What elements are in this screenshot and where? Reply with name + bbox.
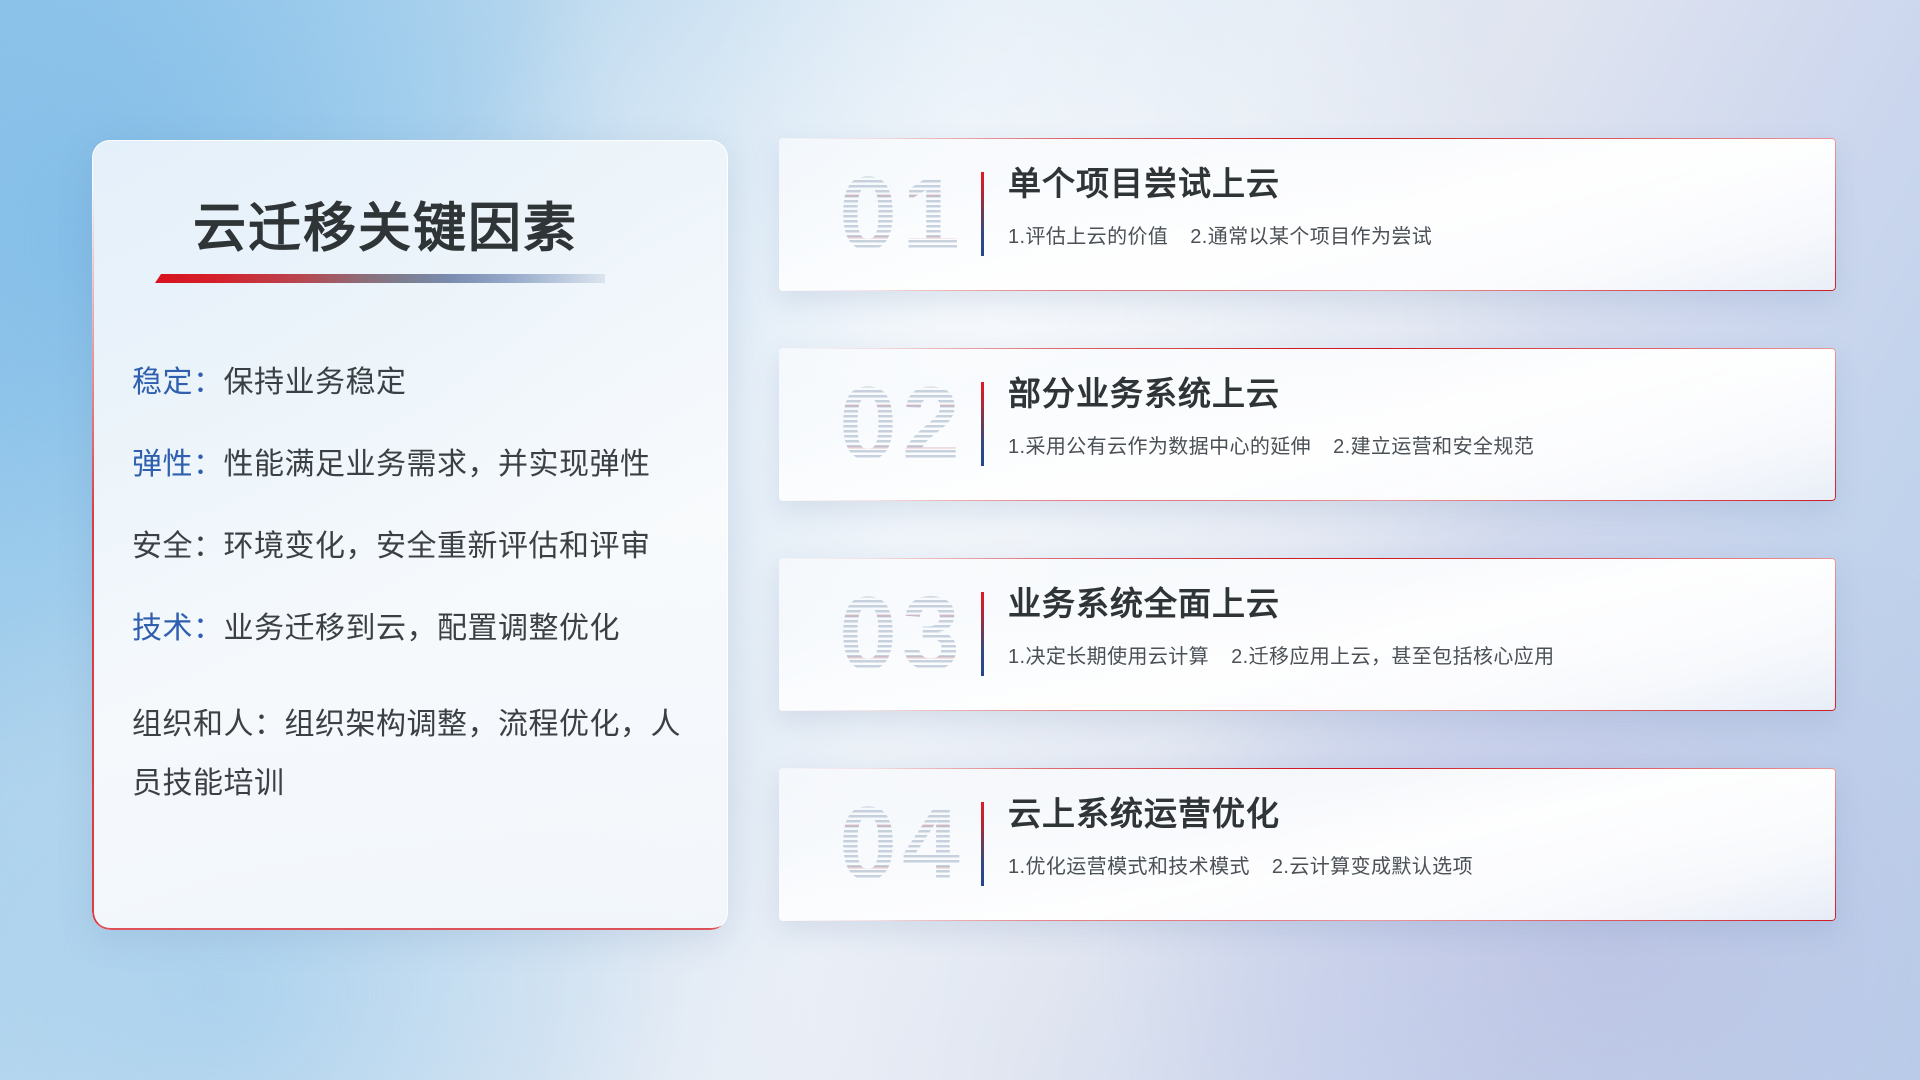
stage-title: 云上系统运营优化	[1008, 794, 1812, 834]
stage-number: 04	[807, 780, 997, 908]
stage-description-part-1: 1.决定长期使用云计算	[1008, 646, 1209, 668]
stage-card-02[interactable]: 02 02 部分业务系统上云 1.采用公有云作为数据中心的延伸2.建立运营和安全…	[779, 348, 1836, 501]
stage-description: 1.评估上云的价值2.通常以某个项目作为尝试	[1008, 220, 1812, 249]
stage-number-tint: 02	[807, 360, 997, 488]
list-item: 稳定：保持业务稳定	[132, 368, 702, 398]
stage-body: 部分业务系统上云 1.采用公有云作为数据中心的延伸2.建立运营和安全规范	[1008, 374, 1812, 459]
stage-title: 业务系统全面上云	[1008, 584, 1812, 624]
list-item-key: 安全：	[132, 530, 224, 563]
list-item: 技术：业务迁移到云，配置调整优化	[132, 614, 702, 644]
stage-body: 单个项目尝试上云 1.评估上云的价值2.通常以某个项目作为尝试	[1008, 164, 1812, 249]
list-item: 组织和人：组织架构调整，流程优化，人员技能培训	[132, 696, 702, 813]
stage-card-03[interactable]: 03 03 业务系统全面上云 1.决定长期使用云计算2.迁移应用上云，甚至包括核…	[779, 558, 1836, 711]
list-item-value: 环境变化，安全重新评估和评审	[224, 530, 651, 563]
stage-description-part-2: 2.建立运营和安全规范	[1333, 436, 1534, 458]
stage-description-part-2: 2.迁移应用上云，甚至包括核心应用	[1231, 646, 1554, 668]
list-item-key: 技术：	[132, 612, 224, 645]
stage-number: 03	[807, 570, 997, 698]
list-item-key: 稳定：	[132, 366, 224, 399]
stage-description-part-1: 1.评估上云的价值	[1008, 226, 1168, 248]
stage-number-tint: 01	[807, 150, 997, 278]
stage-divider	[981, 172, 984, 256]
stage-number-tint: 04	[807, 780, 997, 908]
list-item-key: 弹性：	[132, 448, 224, 481]
stage-description: 1.采用公有云作为数据中心的延伸2.建立运营和安全规范	[1008, 430, 1812, 459]
stage-body: 云上系统运营优化 1.优化运营模式和技术模式2.云计算变成默认选项	[1008, 794, 1812, 879]
stage-body: 业务系统全面上云 1.决定长期使用云计算2.迁移应用上云，甚至包括核心应用	[1008, 584, 1812, 669]
list-item-key: 组织和人：	[132, 708, 285, 741]
page-title: 云迁移关键因素	[193, 186, 578, 262]
title-underline-accent	[155, 274, 605, 283]
stage-divider	[981, 382, 984, 466]
stage-divider	[981, 802, 984, 886]
list-item-value: 保持业务稳定	[224, 366, 407, 399]
list-item-value: 性能满足业务需求，并实现弹性	[224, 448, 651, 481]
stage-number: 02	[807, 360, 997, 488]
stage-description: 1.决定长期使用云计算2.迁移应用上云，甚至包括核心应用	[1008, 640, 1812, 669]
list-item-value: 业务迁移到云，配置调整优化	[224, 612, 621, 645]
stage-title: 单个项目尝试上云	[1008, 164, 1812, 204]
stage-number: 01	[807, 150, 997, 278]
stage-title: 部分业务系统上云	[1008, 374, 1812, 414]
migration-stages-list: 01 01 单个项目尝试上云 1.评估上云的价值2.通常以某个项目作为尝试 02…	[779, 138, 1836, 921]
stage-card-04[interactable]: 04 04 云上系统运营优化 1.优化运营模式和技术模式2.云计算变成默认选项	[779, 768, 1836, 921]
stage-description-part-2: 2.云计算变成默认选项	[1272, 856, 1473, 878]
list-item: 弹性：性能满足业务需求，并实现弹性	[132, 450, 702, 480]
stage-number-tint: 03	[807, 570, 997, 698]
stage-description-part-2: 2.通常以某个项目作为尝试	[1190, 226, 1432, 248]
key-factors-card: 云迁移关键因素 稳定：保持业务稳定 弹性：性能满足业务需求，并实现弹性 安全：环…	[92, 140, 728, 930]
stage-description: 1.优化运营模式和技术模式2.云计算变成默认选项	[1008, 850, 1812, 879]
stage-divider	[981, 592, 984, 676]
slide-stage: 云迁移关键因素 稳定：保持业务稳定 弹性：性能满足业务需求，并实现弹性 安全：环…	[0, 0, 1920, 1080]
stage-description-part-1: 1.优化运营模式和技术模式	[1008, 856, 1250, 878]
key-factors-list: 稳定：保持业务稳定 弹性：性能满足业务需求，并实现弹性 安全：环境变化，安全重新…	[132, 368, 702, 813]
stage-description-part-1: 1.采用公有云作为数据中心的延伸	[1008, 436, 1311, 458]
list-item: 安全：环境变化，安全重新评估和评审	[132, 532, 702, 562]
stage-card-01[interactable]: 01 01 单个项目尝试上云 1.评估上云的价值2.通常以某个项目作为尝试	[779, 138, 1836, 291]
